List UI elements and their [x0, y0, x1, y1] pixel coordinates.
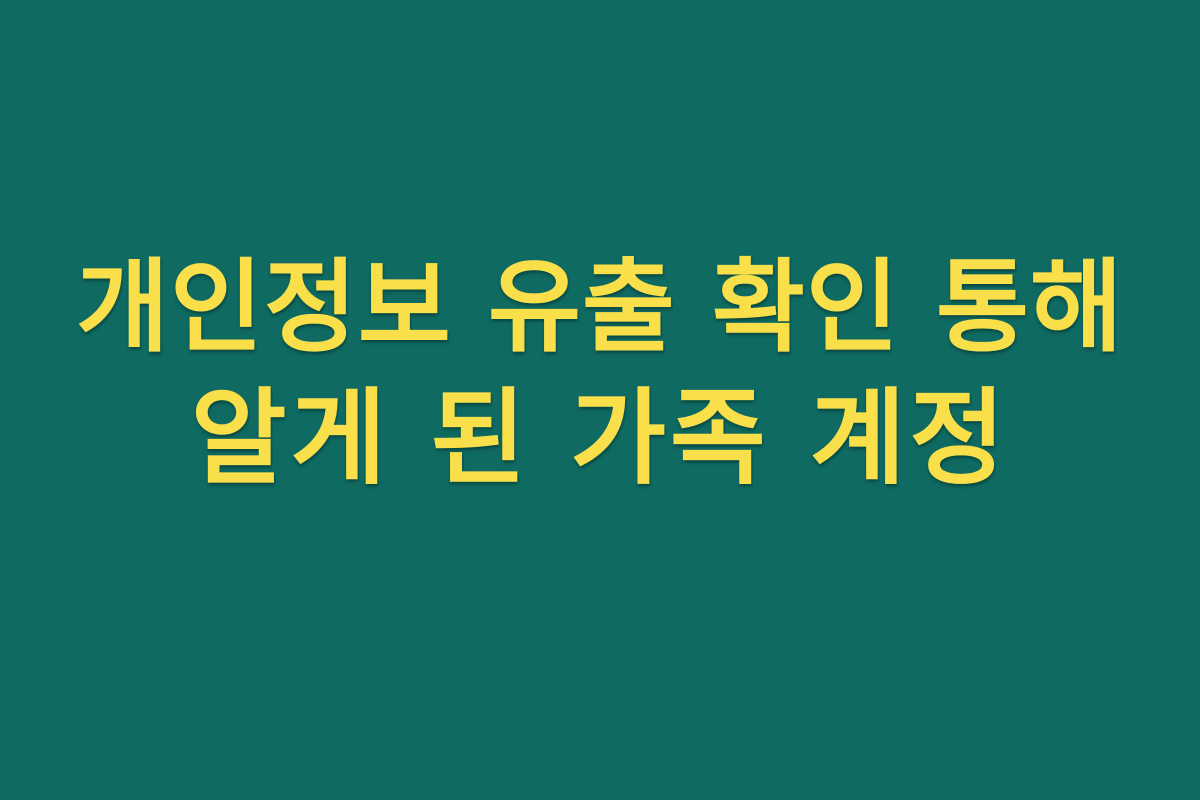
headline-text-block: 개인정보 유출 확인 통해 알게 된 가족 계정	[0, 243, 1200, 505]
headline-card: 개인정보 유출 확인 통해 알게 된 가족 계정	[0, 0, 1200, 800]
headline-line-2: 알게 된 가족 계정	[40, 372, 1160, 505]
headline-line-1: 개인정보 유출 확인 통해	[40, 243, 1160, 372]
